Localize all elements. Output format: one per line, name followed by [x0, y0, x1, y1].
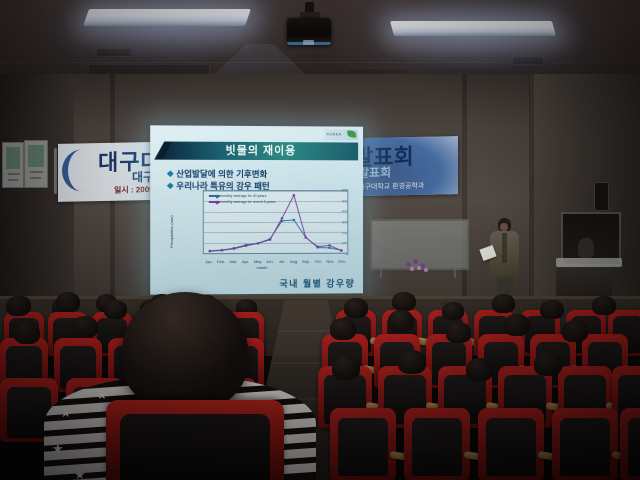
- chart-point: [209, 250, 211, 252]
- audience-member: [344, 298, 368, 318]
- wall-speaker: [594, 182, 609, 211]
- chart-x-tick: Nov.: [326, 259, 334, 264]
- chart-x-tick: Sep.: [302, 259, 310, 264]
- projector-lens: [303, 40, 314, 45]
- fluorescent-light-right: [390, 21, 556, 36]
- auditorium-seat: [404, 408, 470, 480]
- chart-plot-area: monthly average for 30 years monthly ave…: [203, 190, 348, 254]
- chart-x-tick: Jul.: [279, 259, 285, 264]
- audience-member: [330, 318, 356, 340]
- legend-marker-0: [215, 194, 219, 198]
- chart-x-tick: Oct.: [315, 259, 322, 264]
- chart-x-tick: Feb.: [217, 259, 225, 264]
- leaf-icon: [347, 131, 356, 138]
- chart-point: [340, 250, 342, 252]
- sweater-star-icon: ★: [74, 468, 86, 480]
- legend-label-1: monthly average for recent 5 years: [220, 199, 276, 205]
- lecture-hall-photo: 대구대 대구 일시 : 2009. 11. 20(금) 발표회 발표회 대구대학…: [0, 0, 640, 480]
- audience-member: [562, 320, 588, 342]
- chart-point: [257, 243, 259, 245]
- chart-point: [233, 248, 235, 250]
- chart-x-tick: May: [254, 259, 262, 264]
- chart-y-axis-label: Precipitation (mm): [169, 215, 174, 248]
- projection-screen: KOREA 빗물의 재이용 ❖산업발달에 의한 기후변화 ❖우리나라 특유의 강…: [150, 125, 363, 294]
- notice-poster-2: [24, 140, 48, 188]
- audience-member: [398, 350, 426, 374]
- wall-pillar-far-right: [529, 74, 534, 304]
- legend-item-1: monthly average for recent 5 years: [209, 199, 276, 205]
- chart-point: [317, 246, 319, 248]
- rear-desk: [556, 258, 622, 267]
- sweater-star-icon: ★: [96, 388, 108, 401]
- auditorium-seat: [478, 408, 544, 480]
- notice-poster-1: [2, 142, 24, 188]
- audience-member: [332, 356, 360, 380]
- auditorium-seat: [620, 408, 640, 480]
- ceiling-vent-right: [512, 56, 544, 65]
- auditorium-seat: [552, 408, 618, 480]
- audience-member: [540, 300, 564, 319]
- slide-title: 빗물의 재이용: [162, 142, 358, 161]
- audience-member: [14, 322, 40, 344]
- foreground-seat: [106, 400, 284, 480]
- rear-person: [578, 238, 594, 258]
- audience-member: [388, 310, 414, 332]
- chart-legend: monthly average for 30 years monthly ave…: [209, 193, 276, 205]
- chart-point: [221, 249, 223, 251]
- chart-point: [293, 194, 295, 196]
- chart-point: [305, 237, 307, 239]
- banner-organization: 대구대학교 환경공학과: [358, 181, 424, 192]
- chart-point: [328, 247, 330, 249]
- chart-point: [328, 244, 330, 246]
- seat-pad: [486, 418, 536, 476]
- slide-bullet-1-text: 산업발달에 의한 기후변화: [176, 169, 267, 179]
- rainfall-line-chart: Precipitation (mm) 0100200300400500600 m…: [173, 188, 351, 271]
- chart-x-tick: Dec.: [338, 259, 346, 264]
- foreground-attendee: ★★★★★★★: [44, 292, 316, 480]
- chart-x-tick: Mar.: [229, 259, 237, 264]
- banner-swoosh-icon: [62, 149, 102, 192]
- audience-member: [6, 296, 30, 316]
- slide-bullet-1: ❖산업발달에 의한 기후변화: [166, 168, 267, 180]
- audience-member: [592, 296, 616, 315]
- seat-pad: [560, 418, 610, 476]
- chart-point: [293, 219, 295, 221]
- sweater-star-icon: ★: [52, 442, 64, 455]
- audience-member: [492, 294, 515, 313]
- seat-pad: [412, 418, 462, 476]
- slide-caption: 국내 월별 강우량: [279, 276, 355, 289]
- ceiling-vent-left: [96, 48, 132, 57]
- slide-title-bar: 빗물의 재이용: [162, 142, 358, 161]
- chart-x-axis-label: month: [256, 265, 267, 270]
- chart-x-tick: Apr.: [242, 259, 249, 264]
- presenter-face: [500, 223, 508, 231]
- chart-point: [281, 217, 283, 219]
- wall-tube-light: [54, 148, 57, 194]
- ceiling: [0, 0, 640, 78]
- chart-x-tick: Jan.: [205, 259, 213, 264]
- bullet-marker-icon: ❖: [166, 169, 174, 179]
- audience-member: [534, 352, 562, 376]
- chart-point: [245, 245, 247, 247]
- seat-pad: [628, 418, 640, 476]
- fluorescent-light-left: [83, 9, 251, 26]
- audience-member: [446, 322, 471, 343]
- foreground-seat-pad: [120, 414, 270, 480]
- sweater-star-icon: ★: [60, 406, 72, 419]
- legend-marker-1: [215, 200, 219, 204]
- seat-pad: [338, 418, 388, 476]
- presenter-standing: [487, 218, 523, 296]
- auditorium-seat: [330, 408, 396, 480]
- chart-x-tick: Jun.: [266, 259, 274, 264]
- chart-x-tick: Aug.: [290, 259, 298, 264]
- foreground-attendee-head: [122, 292, 248, 410]
- audience-member: [466, 358, 493, 381]
- slide-logo-icon: KOREA: [325, 129, 359, 140]
- audience-member: [442, 302, 464, 320]
- audience-member: [392, 292, 416, 311]
- presenter-lapel: [502, 233, 507, 263]
- slide-logo-text: KOREA: [327, 131, 342, 136]
- audience-member: [504, 314, 530, 336]
- chart-point: [269, 239, 271, 241]
- flower-arrangement: [404, 258, 430, 274]
